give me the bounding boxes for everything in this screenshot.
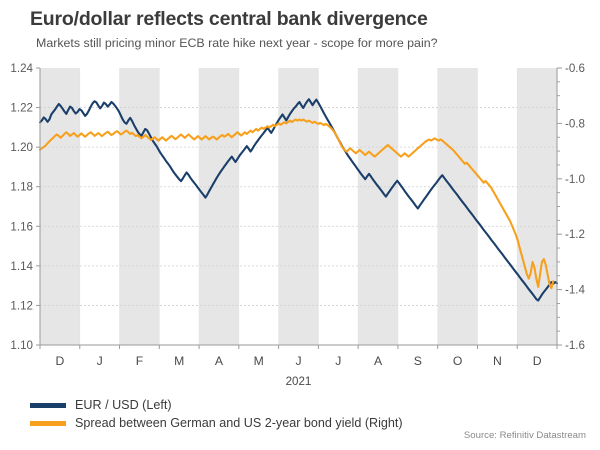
- svg-text:1.16: 1.16: [10, 220, 33, 233]
- svg-text:-0.6: -0.6: [565, 62, 585, 75]
- svg-text:1.14: 1.14: [10, 260, 33, 273]
- svg-text:-1.4: -1.4: [565, 284, 586, 297]
- legend-item-eurusd: EUR / USD (Left): [30, 396, 403, 414]
- legend-swatch-eurusd: [30, 403, 66, 408]
- svg-text:A: A: [215, 354, 224, 368]
- svg-text:-0.8: -0.8: [565, 117, 585, 130]
- svg-text:A: A: [374, 354, 383, 368]
- svg-text:N: N: [493, 354, 502, 368]
- svg-text:J: J: [97, 354, 103, 368]
- svg-text:-1.0: -1.0: [565, 173, 585, 186]
- svg-text:M: M: [174, 354, 184, 368]
- svg-text:S: S: [414, 354, 422, 368]
- legend-swatch-spread: [30, 421, 66, 426]
- svg-text:1.22: 1.22: [10, 102, 33, 115]
- svg-text:D: D: [533, 354, 542, 368]
- svg-text:-1.6: -1.6: [565, 339, 585, 352]
- svg-text:F: F: [136, 354, 143, 368]
- svg-text:1.24: 1.24: [10, 62, 33, 75]
- svg-text:-1.2: -1.2: [565, 228, 585, 241]
- svg-text:D: D: [55, 354, 64, 368]
- legend-item-spread: Spread between German and US 2-year bond…: [30, 414, 403, 432]
- svg-text:1.20: 1.20: [10, 141, 33, 154]
- chart-container: Euro/dollar reflects central bank diverg…: [0, 0, 600, 450]
- source-note: Source: Refinitiv Datastream: [464, 430, 586, 441]
- legend-label-eurusd: EUR / USD (Left): [75, 398, 172, 412]
- svg-text:M: M: [254, 354, 264, 368]
- chart-plot: 1.101.121.141.161.181.201.221.24-1.6-1.4…: [0, 0, 600, 400]
- svg-text:J: J: [335, 354, 341, 368]
- chart-legend: EUR / USD (Left) Spread between German a…: [30, 396, 403, 432]
- svg-text:1.12: 1.12: [10, 299, 33, 312]
- svg-text:J: J: [295, 354, 301, 368]
- legend-label-spread: Spread between German and US 2-year bond…: [75, 416, 403, 430]
- svg-text:1.18: 1.18: [10, 181, 33, 194]
- svg-text:2021: 2021: [286, 375, 312, 388]
- svg-text:1.10: 1.10: [10, 339, 33, 352]
- svg-text:O: O: [453, 354, 462, 368]
